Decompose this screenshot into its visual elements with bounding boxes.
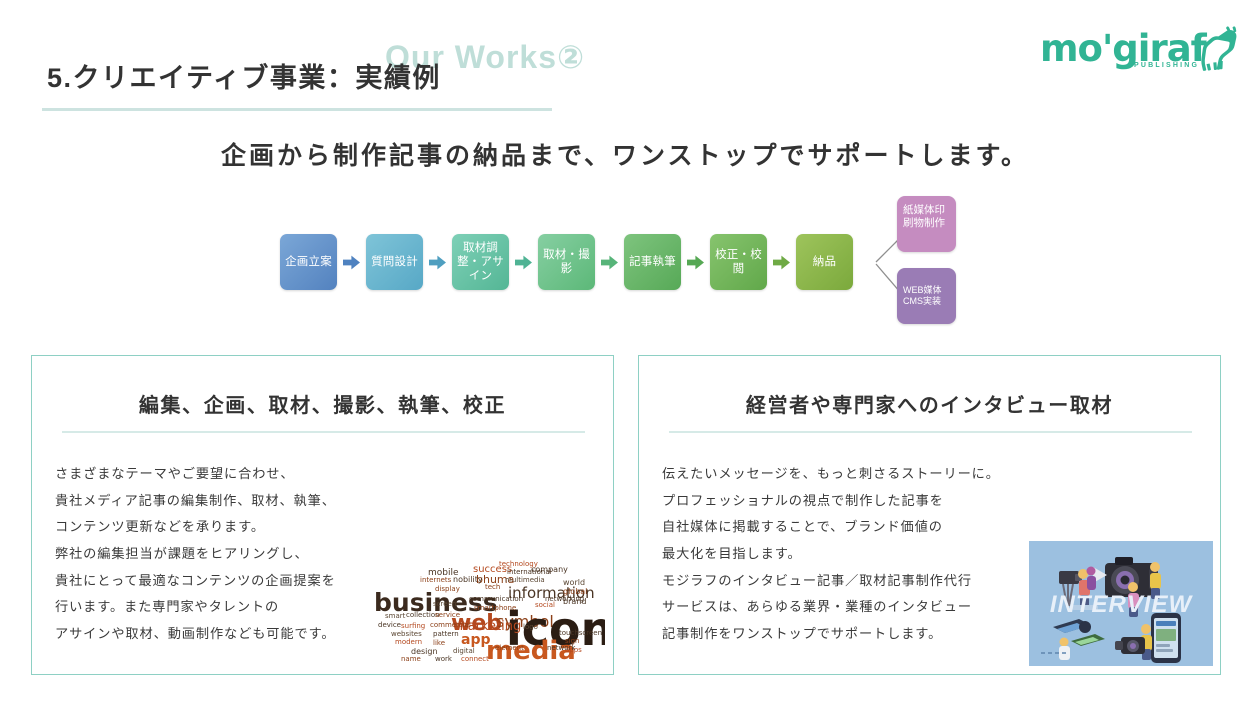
card-editing-body: さまざまなテーマやご要望に合わせ、 貴社メディア記事の編集制作、取材、執筆、 コ… xyxy=(55,461,336,648)
flow-step-row: 企画立案 質問設計 取材調整・アサイン 取材・撮影 記事執筆 校正・校閲 納品 xyxy=(280,234,853,290)
flow-step-proofreading[interactable]: 校正・校閲 xyxy=(710,234,767,290)
card-editing: 編集、企画、取材、撮影、執筆、校正 さまざまなテーマやご要望に合わせ、 貴社メデ… xyxy=(31,355,614,675)
flow-arrow-icon xyxy=(601,255,618,270)
card-editing-divider xyxy=(62,431,585,433)
card-interview-body: 伝えたいメッセージを、もっと刺さるストーリーに。 プロフェッショナルの視点で制作… xyxy=(662,461,1000,648)
card-interview-divider xyxy=(669,431,1192,433)
flow-arrow-icon xyxy=(343,255,360,270)
flow-arrow-icon xyxy=(429,255,446,270)
flow-arrow-icon xyxy=(773,255,790,270)
flow-step-delivery[interactable]: 納品 xyxy=(796,234,853,290)
brand-subword: PUBLISHING xyxy=(1134,62,1199,69)
interview-label: INTERVIEW xyxy=(1029,591,1213,619)
giraffe-icon xyxy=(1201,25,1241,71)
flow-step-writing[interactable]: 記事執筆 xyxy=(624,234,681,290)
wordcloud-image: business web symbol icon media informati… xyxy=(373,552,605,664)
flow-branch-web[interactable]: WEB媒体CMS実装 xyxy=(897,268,956,324)
page-title: 5.クリエイティブ事業：実績例 xyxy=(47,56,441,95)
flow-step-assign[interactable]: 取材調整・アサイン xyxy=(452,234,509,290)
brand-logo: mo'giraf PUBLISHING xyxy=(1040,27,1240,75)
process-flow-diagram: 企画立案 質問設計 取材調整・アサイン 取材・撮影 記事執筆 校正・校閲 納品 … xyxy=(280,192,980,332)
title-underline xyxy=(42,108,552,111)
flow-branch-print[interactable]: 紙媒体印刷物制作 xyxy=(897,196,956,252)
flow-step-question-design[interactable]: 質問設計 xyxy=(366,234,423,290)
card-interview: 経営者や専門家へのインタビュー取材 伝えたいメッセージを、もっと刺さるストーリー… xyxy=(638,355,1221,675)
flow-arrow-icon xyxy=(687,255,704,270)
flow-step-shooting[interactable]: 取材・撮影 xyxy=(538,234,595,290)
flow-step-planning[interactable]: 企画立案 xyxy=(280,234,337,290)
card-interview-title: 経営者や専門家へのインタビュー取材 xyxy=(639,389,1220,418)
flow-arrow-icon xyxy=(515,255,532,270)
card-editing-title: 編集、企画、取材、撮影、執筆、校正 xyxy=(32,389,613,418)
slide-header: Our Works② 5.クリエイティブ事業：実績例 mo'giraf PUBL… xyxy=(0,0,1250,125)
slide-subtitle: 企画から制作記事の納品まで、ワンストップでサポートします。 xyxy=(0,136,1250,172)
interview-image: INTERVIEW xyxy=(1029,541,1213,666)
